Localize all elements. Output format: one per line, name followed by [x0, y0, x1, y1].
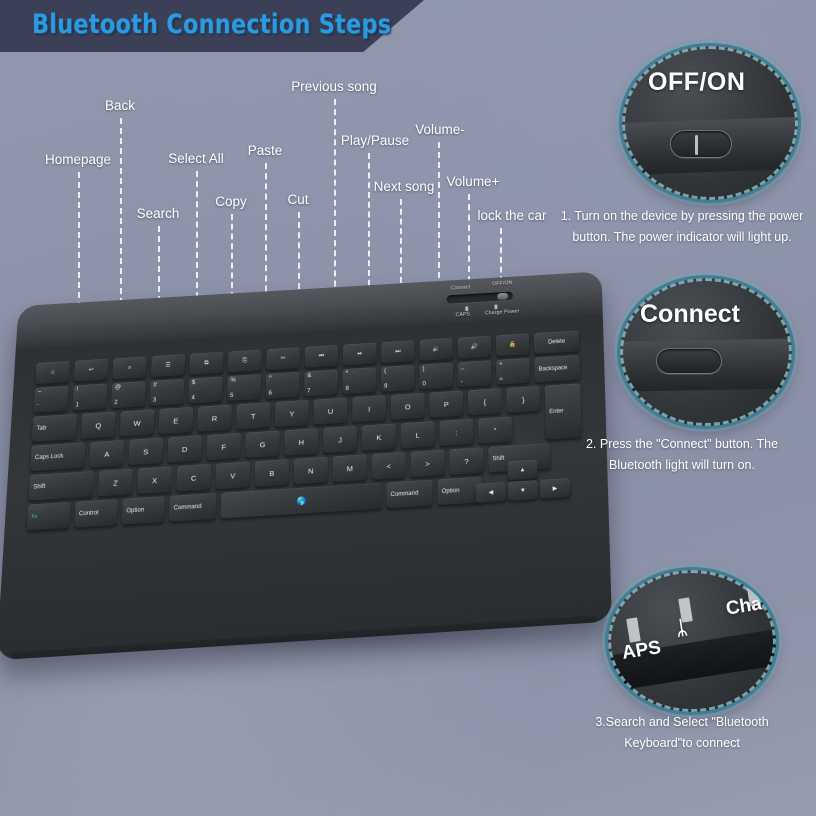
- keyboard-body: Connect OFF/ON CAPS Charge Power ⌂ ↩ ⌕ ☰…: [0, 271, 612, 660]
- step-2-line-1: 2. Press the "Connect" button. The: [548, 434, 816, 455]
- key-f[interactable]: F: [206, 433, 241, 460]
- key-volume-up[interactable]: 🔊: [458, 336, 491, 359]
- key-q[interactable]: Q: [81, 412, 116, 439]
- power-switch[interactable]: [670, 130, 732, 158]
- step-3-text: 3.Search and Select "Bluetooth Keyboard"…: [548, 712, 816, 753]
- callout-label: Paste: [248, 143, 283, 158]
- key-home[interactable]: ⌂: [35, 361, 70, 384]
- key-select-all[interactable]: ☰: [151, 354, 185, 377]
- charge-power-label: Charge Power: [485, 309, 520, 317]
- callout-label: Next song: [374, 179, 435, 194]
- key-right-command[interactable]: Command: [387, 480, 433, 509]
- switch-knob[interactable]: [497, 293, 508, 300]
- key-u[interactable]: U: [314, 398, 348, 425]
- key-l[interactable]: L: [401, 421, 435, 448]
- callout-label: lock the car: [477, 208, 546, 223]
- key-arrow-down[interactable]: ▼: [508, 480, 538, 501]
- step-2-text: 2. Press the "Connect" button. The Bluet…: [548, 434, 816, 475]
- step-2-line-2: Bluetooth light will turn on.: [548, 455, 816, 476]
- key-z[interactable]: Z: [98, 469, 133, 497]
- keyboard-deck: ⌂ ↩ ⌕ ☰ ⧉ ⎘ ✂ ⏮ ⏯ ⏭ 🔉 🔊 🔒 Delete ~` !1 @…: [0, 314, 612, 660]
- key-s[interactable]: S: [128, 438, 163, 465]
- inset-connect: Connect: [620, 278, 792, 426]
- key-y[interactable]: Y: [275, 400, 309, 427]
- key-7[interactable]: &7: [304, 370, 338, 397]
- key-next-track[interactable]: ⏭: [381, 340, 414, 363]
- globe-icon: 🌎: [296, 496, 306, 506]
- key-a[interactable]: A: [89, 440, 124, 467]
- key-d[interactable]: D: [167, 435, 202, 462]
- inset-off-on: OFF/ON: [622, 46, 798, 200]
- switch-slot[interactable]: [447, 291, 513, 303]
- key-b[interactable]: B: [255, 459, 290, 487]
- key-caps-lock[interactable]: Caps Lock: [30, 442, 85, 471]
- key-e[interactable]: E: [158, 407, 193, 434]
- key-slash[interactable]: ?: [450, 447, 484, 474]
- key-c[interactable]: C: [176, 464, 211, 492]
- key-period[interactable]: >: [411, 450, 445, 478]
- key-left-bracket[interactable]: {: [468, 388, 502, 415]
- connect-button[interactable]: [656, 348, 722, 374]
- key-enter[interactable]: Enter: [545, 383, 582, 439]
- key-backspace[interactable]: Backspace: [534, 355, 580, 382]
- callout-label: Search: [137, 206, 180, 221]
- callout-label: Volume-: [415, 122, 465, 137]
- key-lock[interactable]: 🔒: [496, 333, 530, 356]
- key-arrow-up[interactable]: ▲: [507, 460, 537, 480]
- key-arrow-left[interactable]: ◀: [476, 482, 506, 503]
- key-search[interactable]: ⌕: [112, 357, 146, 380]
- key-volume-down[interactable]: 🔉: [420, 338, 453, 361]
- callout-label: Volume+: [447, 174, 500, 189]
- connect-switch-label: Connect: [451, 285, 471, 292]
- key-r[interactable]: R: [197, 405, 232, 432]
- key-h[interactable]: H: [284, 428, 318, 455]
- step-1-line-2: button. The power indicator will light u…: [548, 227, 816, 248]
- step-3-line-1: 3.Search and Select "Bluetooth: [548, 712, 816, 733]
- key-g[interactable]: G: [245, 431, 279, 458]
- callout-label: Select All: [168, 151, 224, 166]
- key-3[interactable]: #3: [150, 379, 185, 406]
- page-title: Bluetooth Connection Steps: [32, 9, 391, 40]
- callout-label: Homepage: [45, 152, 111, 167]
- key-w[interactable]: W: [120, 409, 155, 436]
- key-space[interactable]: 🌎: [221, 483, 382, 519]
- key-play-pause[interactable]: ⏯: [343, 343, 377, 366]
- key-backtick[interactable]: ~`: [34, 386, 69, 413]
- key-equals[interactable]: +=: [496, 358, 530, 385]
- key-o[interactable]: O: [391, 393, 425, 420]
- key-copy[interactable]: ⧉: [189, 352, 223, 375]
- key-j[interactable]: J: [323, 426, 357, 453]
- key-fn[interactable]: Fn: [27, 502, 71, 530]
- key-minus[interactable]: _-: [458, 360, 492, 387]
- caps-label: CAPS: [456, 312, 471, 318]
- callout-label: Back: [105, 98, 135, 113]
- callout-label: Play/Pause: [341, 133, 409, 148]
- caps-led: [465, 306, 467, 311]
- key-comma[interactable]: <: [372, 452, 406, 480]
- key-1[interactable]: !1: [72, 384, 107, 411]
- key-8[interactable]: *8: [343, 367, 377, 394]
- key-6[interactable]: ^6: [266, 372, 300, 399]
- key-left-option[interactable]: Option: [122, 496, 165, 524]
- key-x[interactable]: X: [137, 466, 172, 494]
- key-right-bracket[interactable]: }: [506, 386, 540, 413]
- key-k[interactable]: K: [362, 424, 396, 451]
- key-quote[interactable]: ": [478, 416, 512, 443]
- inset-title: Connect: [640, 300, 740, 329]
- key-semicolon[interactable]: :: [439, 419, 473, 446]
- key-delete[interactable]: Delete: [534, 330, 579, 353]
- key-v[interactable]: V: [215, 462, 250, 490]
- key-i[interactable]: I: [352, 395, 386, 422]
- key-control[interactable]: Control: [74, 499, 118, 527]
- key-m[interactable]: M: [333, 454, 367, 482]
- callout-label: Copy: [215, 194, 247, 209]
- step-1-text: 1. Turn on the device by pressing the po…: [548, 206, 816, 247]
- key-9[interactable]: (9: [381, 365, 415, 392]
- key-n[interactable]: N: [294, 457, 328, 485]
- key-5[interactable]: %5: [227, 374, 261, 401]
- key-2[interactable]: @2: [111, 381, 146, 408]
- callout-label: Cut: [287, 192, 308, 207]
- key-left-shift[interactable]: Shift: [28, 471, 94, 501]
- key-p[interactable]: P: [429, 391, 463, 418]
- caps-led: [626, 617, 641, 642]
- key-back[interactable]: ↩: [74, 359, 109, 382]
- key-4[interactable]: $4: [188, 377, 222, 404]
- key-t[interactable]: T: [236, 402, 270, 429]
- key-tab[interactable]: Tab: [32, 414, 77, 442]
- off-on-switch-label: OFF/ON: [492, 280, 512, 287]
- callout-label: Previous song: [291, 79, 377, 94]
- switch-divider: [695, 135, 698, 155]
- step-1-line-1: 1. Turn on the device by pressing the po…: [548, 206, 816, 227]
- key-0[interactable]: )0: [420, 363, 454, 390]
- inset-indicators: APS ᛦ Cha: [608, 570, 776, 712]
- charge-label: Cha: [725, 593, 764, 620]
- key-arrow-right[interactable]: ▶: [540, 478, 570, 499]
- key-previous-track[interactable]: ⏮: [305, 345, 339, 368]
- keyboard-illustration: Connect OFF/ON CAPS Charge Power ⌂ ↩ ⌕ ☰…: [0, 262, 620, 682]
- key-paste[interactable]: ⎘: [228, 350, 262, 373]
- step-3-line-2: Keyboard"to connect: [548, 733, 816, 754]
- inset-title: OFF/ON: [648, 68, 745, 97]
- charge-led: [494, 305, 496, 310]
- key-cut[interactable]: ✂: [266, 347, 300, 370]
- key-left-command[interactable]: Command: [169, 493, 216, 522]
